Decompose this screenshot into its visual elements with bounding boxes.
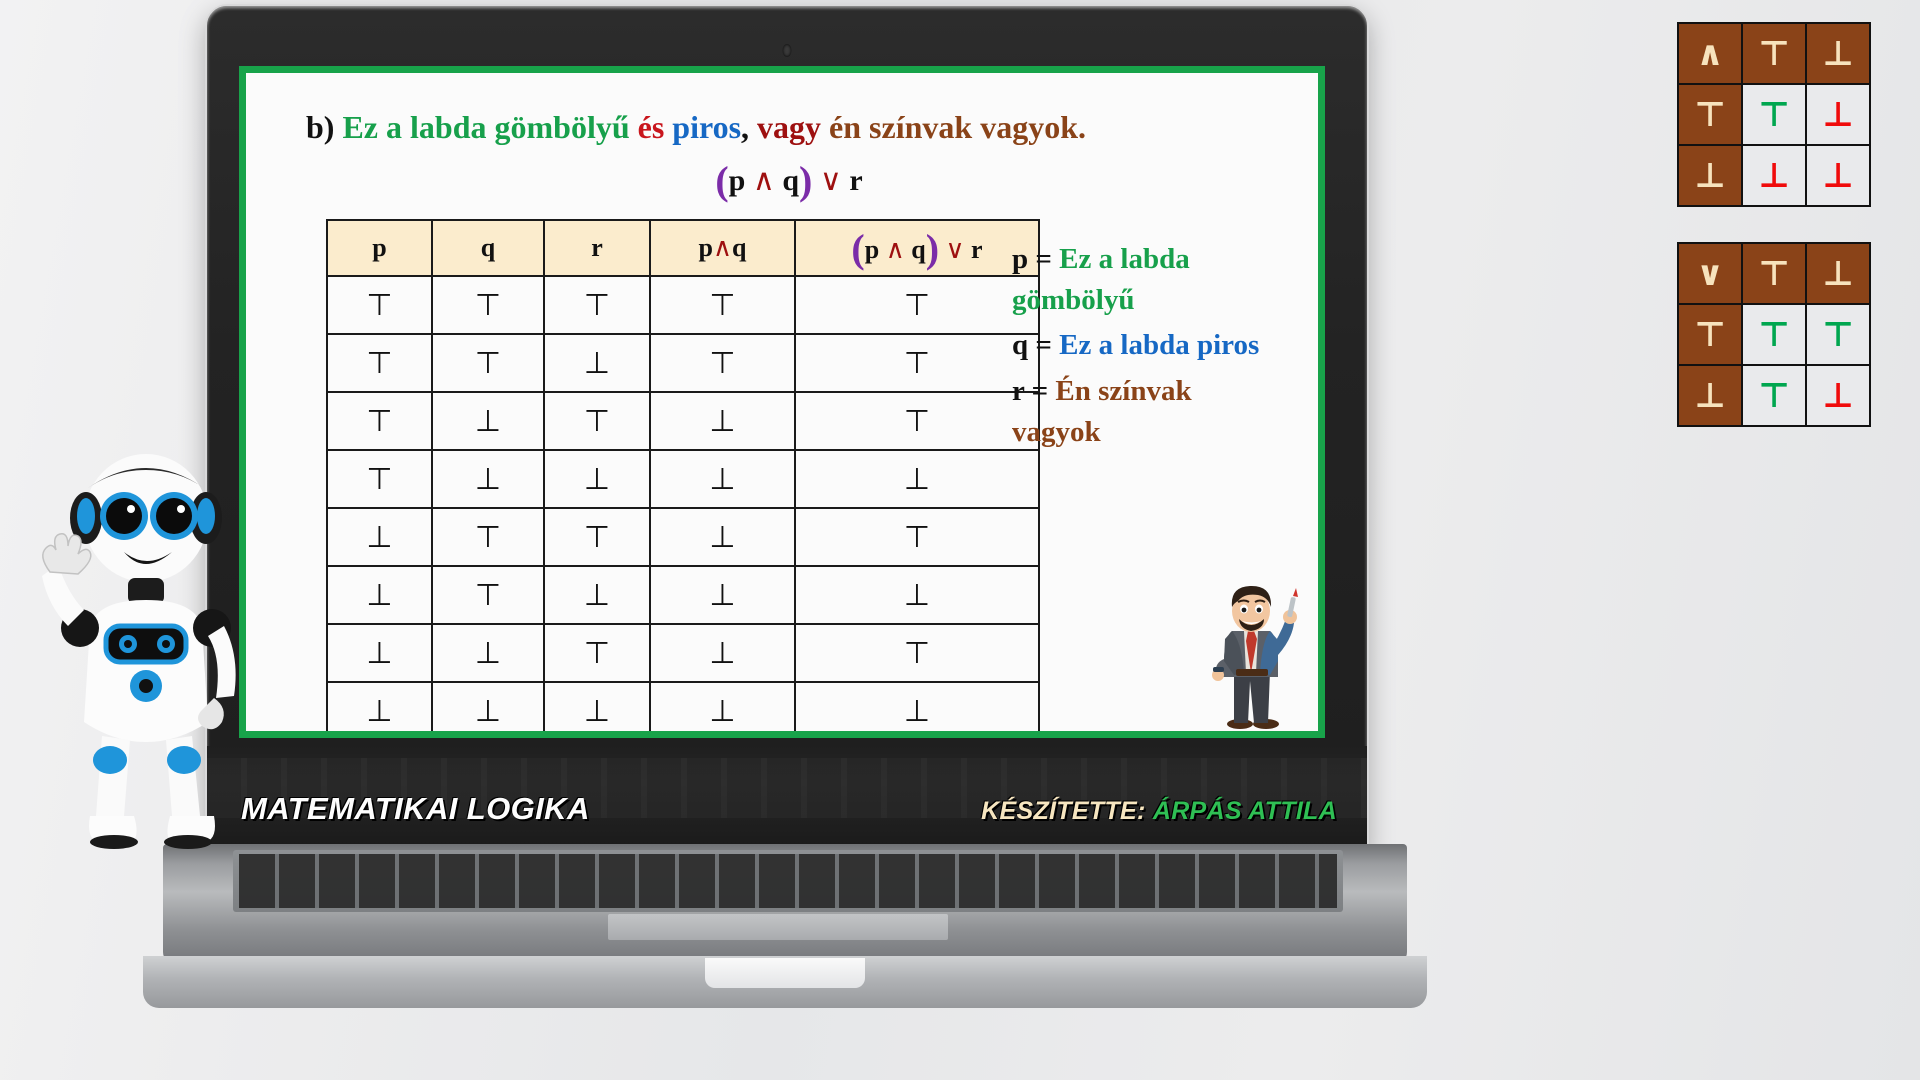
cell-r-row6: ⊥ [544, 566, 650, 624]
legend-var-q: q [1012, 329, 1028, 361]
and-row-header-false: ⊥ [1678, 145, 1742, 206]
cell-q-row6: ⊤ [432, 566, 544, 624]
legend-item-p: p = Ez a labda gömbölyű [1012, 239, 1262, 321]
hdr5-p: p [865, 235, 879, 264]
or-cell-ff: ⊥ [1806, 365, 1870, 426]
laptop-lid: b) Ez a labda gömbölyű és piros, vagy én… [205, 4, 1369, 853]
column-header-p-and-q: p∧q [650, 220, 795, 276]
cell-q-row3: ⊥ [432, 392, 544, 450]
cell-q-row2: ⊤ [432, 334, 544, 392]
or-col-header-false: ⊥ [1806, 243, 1870, 304]
or-row-header-false: ⊥ [1678, 365, 1742, 426]
truth-table-row: ⊥⊥⊥⊥⊥ [327, 682, 1039, 738]
legend-item-r: r = Én színvak vagyok [1012, 371, 1262, 453]
cell-r-row1: ⊤ [544, 276, 650, 334]
credit-label: KÉSZÍTETTE: [981, 797, 1145, 825]
legend-eq-r: = [1024, 375, 1055, 407]
statement-part-r: én színvak vagyok [829, 109, 1078, 145]
teacher-character [1194, 581, 1312, 731]
cell-result-row4: ⊥ [795, 450, 1039, 508]
truth-table-body: ⊤⊤⊤⊤⊤⊤⊤⊥⊤⊤⊤⊥⊤⊥⊤⊤⊥⊥⊥⊥⊥⊤⊤⊥⊤⊥⊤⊥⊥⊥⊥⊥⊤⊥⊤⊥⊥⊥⊥⊥ [327, 276, 1039, 738]
cell-result-row7: ⊤ [795, 624, 1039, 682]
hdr5-and: ∧ [886, 235, 905, 264]
laptop-base [163, 844, 1407, 964]
legend-var-r: r [1012, 375, 1024, 407]
formula-p: p [729, 164, 746, 197]
and-cell-tt: ⊤ [1742, 84, 1806, 145]
truth-table-row: ⊥⊤⊤⊥⊤ [327, 508, 1039, 566]
formula-and-operator: ∧ [753, 164, 775, 197]
cell-p-row4: ⊤ [327, 450, 432, 508]
formula-close-bracket: ) [799, 158, 812, 203]
cell-p-row7: ⊥ [327, 624, 432, 682]
cell-p-row5: ⊥ [327, 508, 432, 566]
legend-eq-q: = [1028, 329, 1059, 361]
or-operator-table: ∨ ⊤ ⊥ ⊤ ⊤ ⊤ ⊥ ⊤ ⊥ [1677, 242, 1871, 427]
cell-p-and-q-row7: ⊥ [650, 624, 795, 682]
or-table-row-true: ⊤ ⊤ ⊤ [1678, 304, 1870, 365]
and-operator-table: ∧ ⊤ ⊥ ⊤ ⊤ ⊥ ⊥ ⊥ ⊥ [1677, 22, 1871, 207]
legend-eq-p: = [1028, 243, 1059, 275]
hdr5-or: ∨ [946, 235, 965, 264]
and-table-row-false: ⊥ ⊥ ⊥ [1678, 145, 1870, 206]
cell-q-row4: ⊥ [432, 450, 544, 508]
laptop-lid-footer: MATEMATIKAI LOGIKA KÉSZÍTETTE: ÁRPÁS ATT… [207, 746, 1367, 851]
or-cell-tt: ⊤ [1742, 304, 1806, 365]
cell-p-and-q-row6: ⊥ [650, 566, 795, 624]
and-operator-symbol: ∧ [1678, 23, 1742, 84]
hdr4-q: q [732, 233, 746, 262]
truth-table: p q r p∧q (p ∧ q) ∨ r [326, 219, 1040, 738]
or-row-header-true: ⊤ [1678, 304, 1742, 365]
cell-result-row1: ⊤ [795, 276, 1039, 334]
statement-part-p: Ez a labda gömbölyű [342, 109, 629, 145]
cell-r-row7: ⊤ [544, 624, 650, 682]
formula-open-bracket: ( [715, 158, 728, 203]
cell-p-and-q-row3: ⊥ [650, 392, 795, 450]
and-cell-ft: ⊥ [1742, 145, 1806, 206]
and-cell-tf: ⊥ [1806, 84, 1870, 145]
or-table-row-false: ⊥ ⊤ ⊥ [1678, 365, 1870, 426]
credit-name: ÁRPÁS ATTILA [1153, 797, 1337, 825]
cell-r-row3: ⊤ [544, 392, 650, 450]
or-col-header-true: ⊤ [1742, 243, 1806, 304]
cell-p-row2: ⊤ [327, 334, 432, 392]
or-cell-tf: ⊤ [1806, 304, 1870, 365]
cell-result-row6: ⊥ [795, 566, 1039, 624]
cell-p-row3: ⊤ [327, 392, 432, 450]
truth-table-row: ⊤⊥⊥⊥⊥ [327, 450, 1039, 508]
legend-item-q: q = Ez a labda piros [1012, 325, 1262, 366]
laptop-keyboard [233, 850, 1343, 912]
and-cell-ff: ⊥ [1806, 145, 1870, 206]
statement-connective-and: és [638, 109, 665, 145]
cell-q-row1: ⊤ [432, 276, 544, 334]
column-header-result: (p ∧ q) ∨ r [795, 220, 1039, 276]
cell-p-and-q-row5: ⊥ [650, 508, 795, 566]
cell-r-row4: ⊥ [544, 450, 650, 508]
formula-or-operator: ∨ [820, 164, 842, 197]
cell-p-and-q-row2: ⊤ [650, 334, 795, 392]
statement-line: b) Ez a labda gömbölyű és piros, vagy én… [306, 108, 1306, 146]
cell-result-row8: ⊥ [795, 682, 1039, 738]
cell-r-row2: ⊥ [544, 334, 650, 392]
hdr4-and: ∧ [713, 233, 732, 262]
or-operator-symbol: ∨ [1678, 243, 1742, 304]
truth-table-row: ⊥⊥⊤⊥⊤ [327, 624, 1039, 682]
or-table-header-row: ∨ ⊤ ⊥ [1678, 243, 1870, 304]
column-header-q: q [432, 220, 544, 276]
footer-brand: MATEMATIKAI LOGIKA [241, 791, 590, 827]
variable-legend: p = Ez a labda gömbölyű q = Ez a labda p… [1012, 239, 1262, 457]
cell-p-and-q-row4: ⊥ [650, 450, 795, 508]
legend-text-q: Ez a labda piros [1059, 329, 1259, 361]
legend-var-p: p [1012, 243, 1028, 275]
cell-result-row5: ⊤ [795, 508, 1039, 566]
cell-q-row5: ⊤ [432, 508, 544, 566]
robot-mascot [28, 430, 258, 850]
slide-canvas: b) Ez a labda gömbölyű és piros, vagy én… [239, 66, 1325, 738]
laptop-mockup: b) Ez a labda gömbölyű és piros, vagy én… [205, 4, 1365, 1004]
laptop-trackpad [608, 914, 948, 940]
cell-p-row1: ⊤ [327, 276, 432, 334]
statement-period: . [1078, 109, 1086, 145]
truth-table-row: ⊥⊤⊥⊥⊥ [327, 566, 1039, 624]
cell-result-row2: ⊤ [795, 334, 1039, 392]
cell-q-row7: ⊥ [432, 624, 544, 682]
cell-p-row8: ⊥ [327, 682, 432, 738]
and-col-header-false: ⊥ [1806, 23, 1870, 84]
statement-connective-or: vagy [757, 109, 821, 145]
cell-result-row3: ⊤ [795, 392, 1039, 450]
and-col-header-true: ⊤ [1742, 23, 1806, 84]
hdr5-close: ) [926, 226, 939, 271]
webcam-icon [783, 44, 792, 57]
cell-r-row8: ⊥ [544, 682, 650, 738]
hdr5-open: ( [851, 226, 864, 271]
truth-table-row: ⊤⊥⊤⊥⊤ [327, 392, 1039, 450]
hdr5-r: r [971, 235, 983, 264]
hdr4-p: p [699, 233, 713, 262]
or-cell-ft: ⊤ [1742, 365, 1806, 426]
column-header-p: p [327, 220, 432, 276]
and-row-header-true: ⊤ [1678, 84, 1742, 145]
cell-p-row6: ⊥ [327, 566, 432, 624]
hdr5-q: q [911, 235, 925, 264]
truth-table-row: ⊤⊤⊤⊤⊤ [327, 276, 1039, 334]
laptop-latch [705, 958, 865, 988]
and-table-header-row: ∧ ⊤ ⊥ [1678, 23, 1870, 84]
cell-p-and-q-row1: ⊤ [650, 276, 795, 334]
and-table-row-true: ⊤ ⊤ ⊥ [1678, 84, 1870, 145]
cell-r-row5: ⊤ [544, 508, 650, 566]
truth-table-row: ⊤⊤⊥⊤⊤ [327, 334, 1039, 392]
formula-r: r [849, 164, 862, 197]
cell-q-row8: ⊥ [432, 682, 544, 738]
statement-comma: , [741, 109, 749, 145]
item-label: b) [306, 109, 334, 145]
column-header-r: r [544, 220, 650, 276]
statement-part-q: piros [672, 109, 741, 145]
truth-table-header-row: p q r p∧q (p ∧ q) ∨ r [327, 220, 1039, 276]
formula-line: (p ∧ q) ∨ r [246, 157, 1325, 204]
cell-p-and-q-row8: ⊥ [650, 682, 795, 738]
formula-q: q [782, 164, 799, 197]
footer-credit: KÉSZÍTETTE: ÁRPÁS ATTILA [981, 797, 1337, 826]
